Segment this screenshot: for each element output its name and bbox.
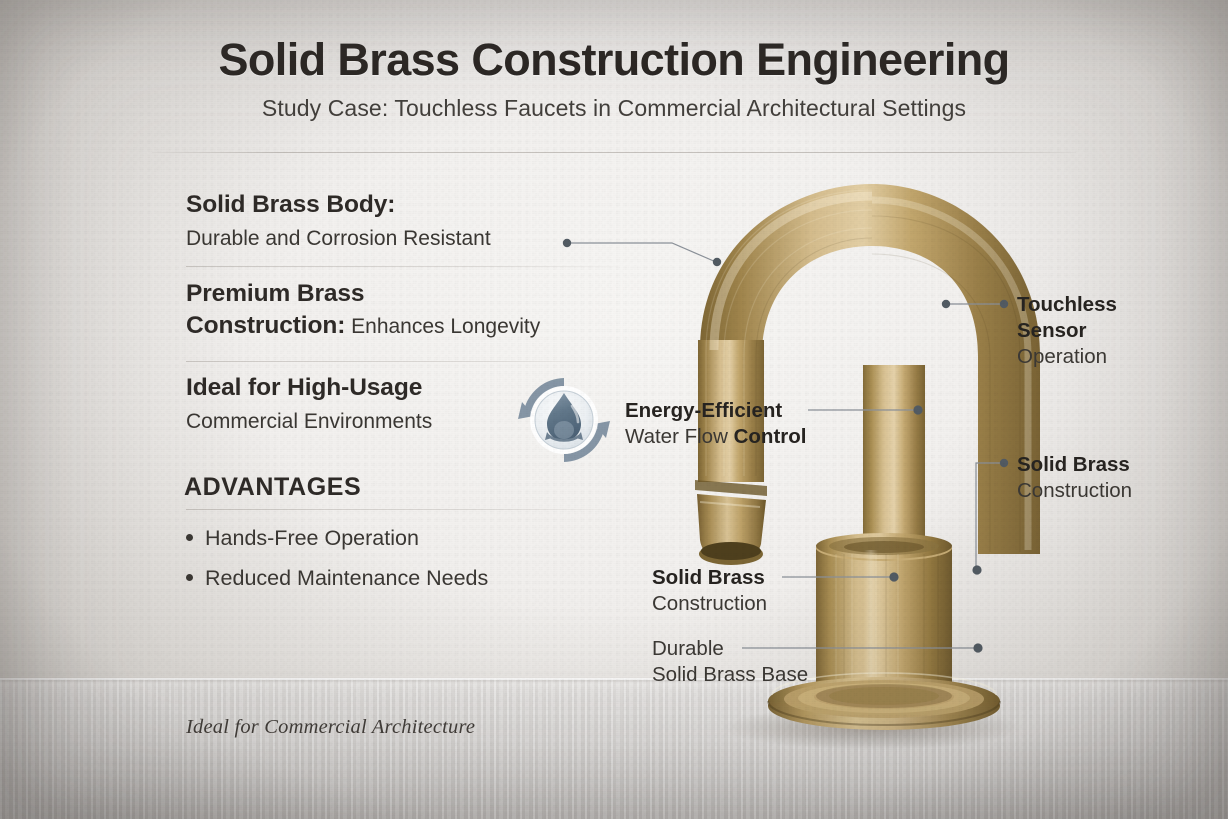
water-drop-cycle-icon [516, 372, 612, 468]
callout-line-1: Durable [652, 636, 808, 662]
callout-line-1: Touchless [1017, 292, 1117, 318]
callout-line-3: Operation [1017, 344, 1117, 370]
callout-durable-solid-brass-base: Durable Solid Brass Base [652, 636, 808, 688]
callout-line-2: Water Flow Control [625, 430, 806, 447]
callout-line-2: Construction [1017, 478, 1132, 504]
callout-line-2: Construction [652, 591, 767, 617]
feature-subtext-inline: Enhances Longevity [345, 315, 540, 338]
callout-line-1: Energy-Efficient [625, 398, 806, 424]
bullet-dot-icon [186, 574, 193, 581]
advantages-title: ADVANTAGES [184, 473, 361, 502]
callout-line-2-bold: Control [734, 425, 807, 448]
footer-tagline: Ideal for Commercial Architecture [186, 716, 475, 739]
feature-heading-line2: Construction: [186, 312, 345, 339]
advantage-label: Hands-Free Operation [205, 526, 419, 550]
feature-heading: Solid Brass Body: [186, 190, 491, 220]
section-divider-2 [186, 361, 618, 362]
feature-premium-brass-construction: Premium Brass Construction: Enhances Lon… [186, 279, 540, 341]
header-divider [152, 152, 1076, 153]
feature-heading: Ideal for High-Usage [186, 373, 432, 403]
feature-ideal-high-usage: Ideal for High-Usage Commercial Environm… [186, 373, 432, 435]
bullet-dot-icon [186, 534, 193, 541]
page-subtitle: Study Case: Touchless Faucets in Commerc… [0, 95, 1228, 122]
section-divider-3 [186, 509, 618, 510]
callout-line-1: Solid Brass [1017, 452, 1132, 478]
page-title: Solid Brass Construction Engineering [0, 34, 1228, 86]
section-divider-1 [186, 266, 618, 267]
infographic-canvas: Solid Brass Construction Engineering Stu… [0, 0, 1228, 819]
header-block: Solid Brass Construction Engineering Stu… [0, 34, 1228, 122]
callout-line-2: Sensor [1017, 318, 1117, 344]
feature-solid-brass-body: Solid Brass Body: Durable and Corrosion … [186, 190, 491, 252]
advantage-item-1: Hands-Free Operation [186, 526, 419, 551]
callout-line-2-normal: Water Flow [625, 425, 734, 448]
advantage-label: Reduced Maintenance Needs [205, 566, 488, 590]
callout-touchless-sensor: Touchless Sensor Operation [1017, 292, 1117, 369]
feature-subtext: Commercial Environments [186, 409, 432, 435]
callout-line-2: Solid Brass Base [652, 662, 808, 688]
feature-subtext: Durable and Corrosion Resistant [186, 226, 491, 252]
callout-energy-efficient-water-flow: Energy-Efficient Water Flow Control [625, 398, 806, 450]
feature-heading-line2-row: Construction: Enhances Longevity [186, 311, 540, 341]
feature-heading-line1: Premium Brass [186, 279, 540, 309]
advantage-item-2: Reduced Maintenance Needs [186, 566, 488, 591]
callout-solid-brass-construction-mid: Solid Brass Construction [652, 565, 767, 617]
callout-line-1: Solid Brass [652, 565, 767, 591]
callout-solid-brass-construction-right: Solid Brass Construction [1017, 452, 1132, 504]
